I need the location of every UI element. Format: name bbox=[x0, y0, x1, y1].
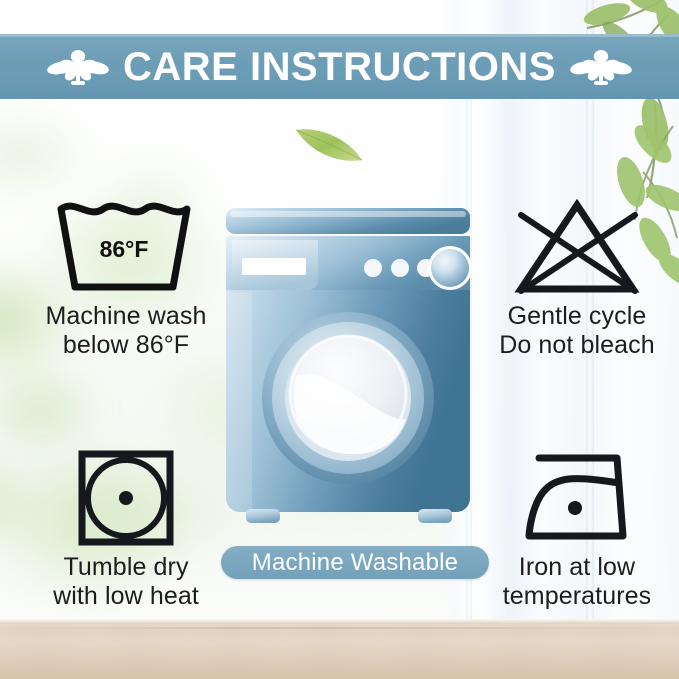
bleach-icon-wrap bbox=[477, 192, 677, 302]
fleur-de-lis-icon-right bbox=[570, 44, 632, 90]
wash-tub-icon-wrap: 86°F bbox=[21, 192, 231, 302]
iron-one-dot-icon bbox=[513, 452, 641, 544]
washer-program-knob[interactable] bbox=[431, 249, 469, 287]
care-item-label: Gentle cycle Do not bleach bbox=[477, 302, 677, 360]
washing-machine-illustration bbox=[222, 206, 474, 536]
tumble-dry-square-icon bbox=[74, 446, 178, 550]
care-item-tumble-dry: Tumble dry with low heat bbox=[21, 443, 231, 611]
machine-washable-badge: Machine Washable bbox=[221, 546, 489, 579]
badge-label: Machine Washable bbox=[252, 551, 458, 575]
wash-temperature-label: 86°F bbox=[100, 236, 149, 262]
iron-icon-wrap bbox=[477, 443, 677, 553]
triangle-crossed-out-icon bbox=[507, 197, 647, 297]
washer-drawer-handle[interactable] bbox=[242, 258, 306, 275]
washer-indicator-dot-2[interactable] bbox=[391, 259, 409, 277]
page-title: CARE INSTRUCTIONS bbox=[123, 47, 556, 87]
care-item-do-not-bleach: Gentle cycle Do not bleach bbox=[477, 192, 677, 360]
care-item-label: Machine wash below 86°F bbox=[21, 302, 231, 360]
washer-left-highlight bbox=[226, 292, 252, 512]
care-item-machine-wash: 86°F Machine wash below 86°F bbox=[21, 192, 231, 360]
tumble-dry-icon-wrap bbox=[21, 443, 231, 553]
header-banner: CARE INSTRUCTIONS bbox=[0, 34, 679, 99]
care-item-label: Iron at low temperatures bbox=[477, 553, 677, 611]
table-wood-grain bbox=[0, 624, 679, 679]
care-item-iron: Iron at low temperatures bbox=[477, 443, 677, 611]
washer-foot-right bbox=[418, 509, 452, 523]
washer-indicator-dot-1[interactable] bbox=[364, 259, 382, 277]
banner-highlight-edge bbox=[0, 34, 679, 37]
floating-leaf-icon bbox=[292, 120, 368, 168]
fleur-de-lis-icon-left bbox=[47, 44, 109, 90]
washer-foot-left bbox=[246, 509, 280, 523]
care-item-label: Tumble dry with low heat bbox=[21, 553, 231, 611]
wash-tub-icon: 86°F bbox=[51, 195, 201, 299]
care-instructions-graphic: CARE INSTRUCTIONS 86°F Machine wash belo… bbox=[0, 0, 679, 679]
washer-top-highlight bbox=[230, 211, 466, 217]
table-seam-line bbox=[0, 627, 679, 629]
